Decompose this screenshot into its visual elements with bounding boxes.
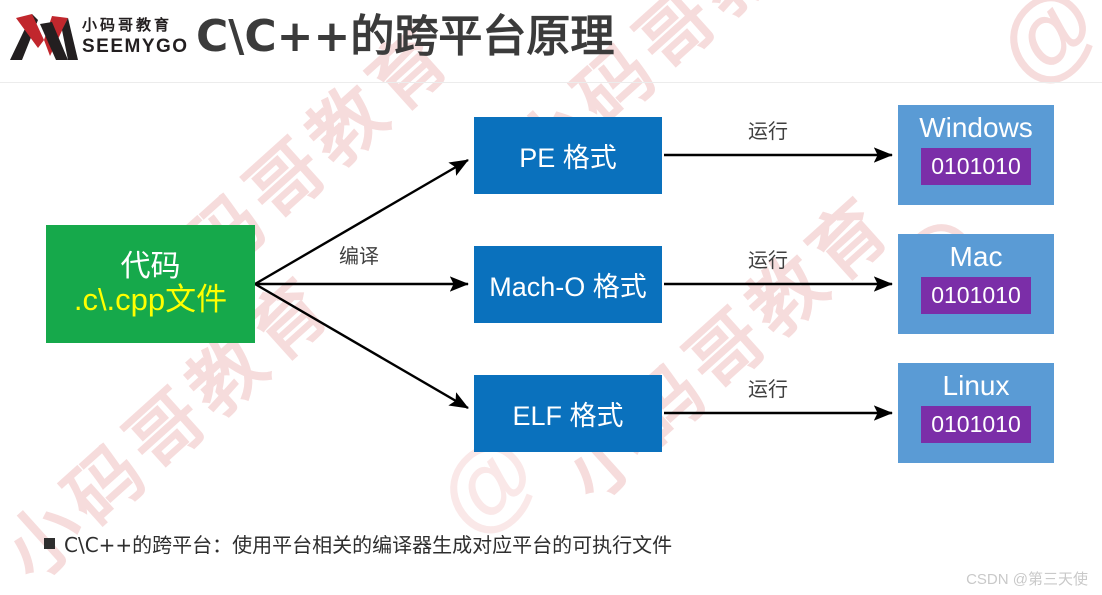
diagram-area: 代码 .c\.cpp文件 PE 格式 Mach-O 格式 ELF 格式 Wind… [0, 82, 1102, 595]
square-bullet-icon [44, 538, 55, 549]
run-arrow-label-linux: 运行 [748, 373, 788, 402]
target-name: Linux [943, 369, 1010, 403]
slide-header: 小码哥教育 SEEMYGO C\C++的跨平台原理 [0, 0, 1102, 82]
csdn-watermark: CSDN @第三天使 [966, 568, 1088, 589]
run-arrow-label-windows: 运行 [748, 115, 788, 144]
summary-bullet: C\C++的跨平台：使用平台相关的编译器生成对应平台的可执行文件 [44, 529, 672, 558]
brand-name-en: SEEMYGO [82, 37, 189, 56]
target-box-linux[interactable]: Linux 0101010 [898, 363, 1054, 463]
format-label: PE 格式 [519, 136, 617, 175]
brand-logo: 小码哥教育 SEEMYGO [8, 8, 188, 66]
format-box-pe[interactable]: PE 格式 [474, 117, 662, 194]
brand-logo-text: 小码哥教育 SEEMYGO [82, 18, 189, 56]
page-title: C\C++的跨平台原理 [196, 6, 614, 68]
target-binary-badge: 0101010 [921, 277, 1031, 314]
format-box-macho[interactable]: Mach-O 格式 [474, 246, 662, 323]
header-divider [0, 82, 1102, 83]
format-label: Mach-O 格式 [489, 265, 647, 304]
compile-arrow-label: 编译 [339, 240, 379, 269]
target-binary-badge: 0101010 [921, 406, 1031, 443]
format-box-elf[interactable]: ELF 格式 [474, 375, 662, 452]
seemygo-m-logo-icon [8, 12, 80, 62]
target-name: Windows [919, 111, 1033, 145]
target-binary-badge: 0101010 [921, 148, 1031, 185]
run-arrow-label-mac: 运行 [748, 244, 788, 273]
brand-name-cn: 小码哥教育 [82, 18, 189, 33]
source-code-box[interactable]: 代码 .c\.cpp文件 [46, 225, 255, 343]
source-code-label-line2: .c\.cpp文件 [74, 283, 227, 318]
slide-canvas: 小码哥教育 小码哥教育 小码哥教育 小码哥教育 @ @ @ 小码哥教育 SEEM… [0, 0, 1102, 595]
summary-bullet-text: C\C++的跨平台：使用平台相关的编译器生成对应平台的可执行文件 [64, 529, 672, 558]
target-name: Mac [950, 240, 1003, 274]
format-label: ELF 格式 [512, 394, 623, 433]
source-code-label-line1: 代码 [121, 250, 181, 284]
target-box-mac[interactable]: Mac 0101010 [898, 234, 1054, 334]
target-box-windows[interactable]: Windows 0101010 [898, 105, 1054, 205]
